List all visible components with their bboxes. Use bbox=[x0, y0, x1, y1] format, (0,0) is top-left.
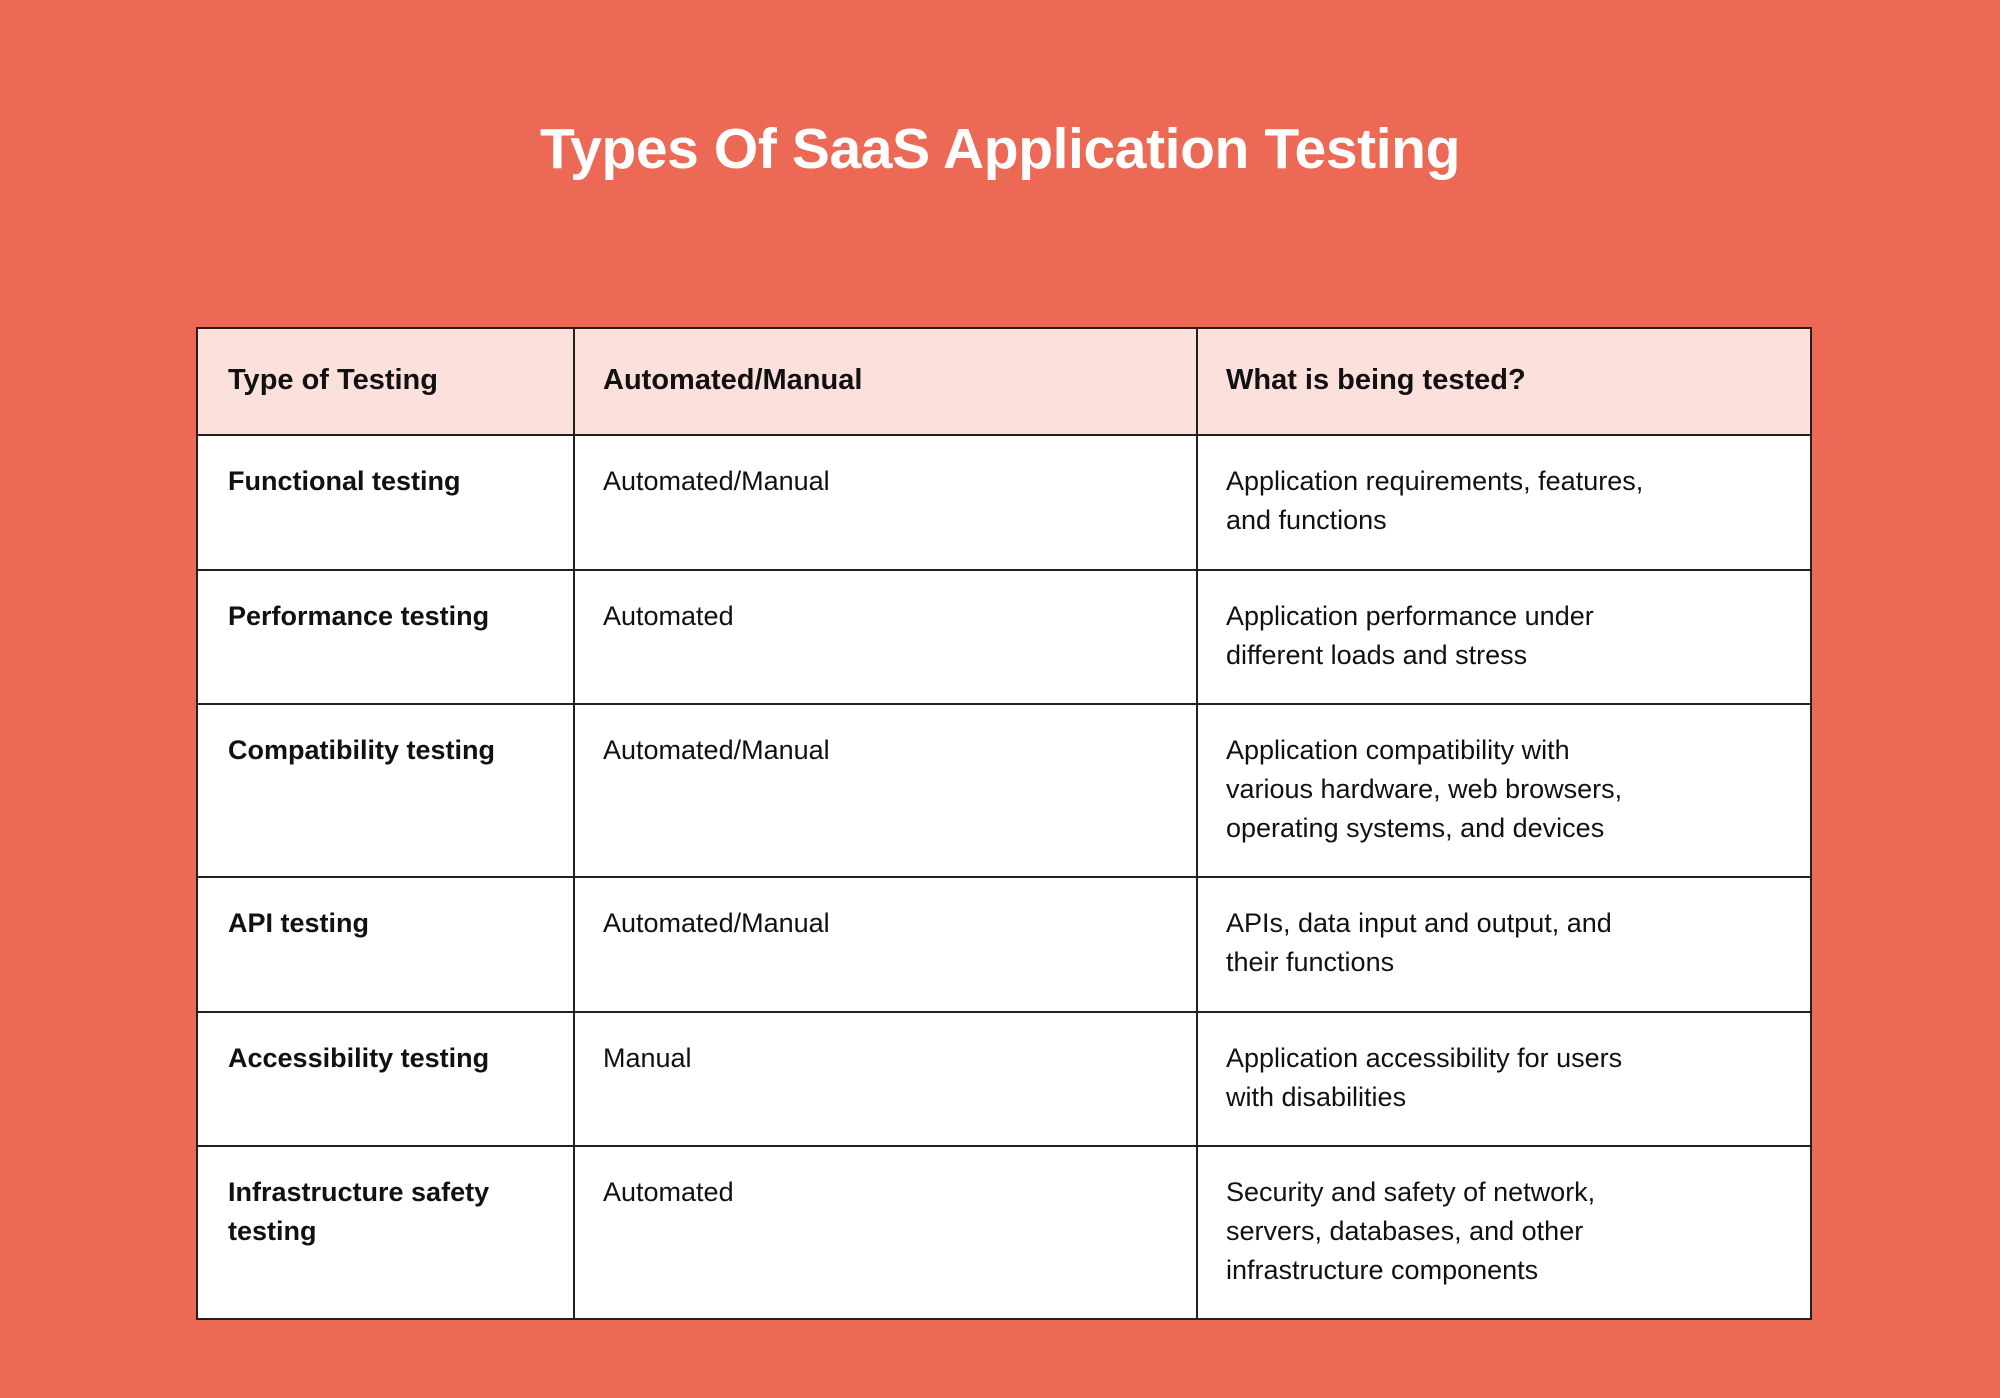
cell-text-line: various hardware, web browsers, bbox=[1226, 770, 1770, 809]
cell-text-line: operating systems, and devices bbox=[1226, 809, 1770, 848]
cell-testing-mode: Automated bbox=[574, 1146, 1197, 1319]
cell-testing-mode: Automated bbox=[574, 570, 1197, 704]
cell-text-line: Application requirements, features, bbox=[1226, 462, 1770, 501]
cell-text-line: Application performance under bbox=[1226, 597, 1770, 636]
column-header-automated-manual: Automated/Manual bbox=[574, 328, 1197, 435]
poster-canvas: Types Of SaaS Application Testing Type o… bbox=[0, 0, 2000, 1398]
testing-types-table: Type of Testing Automated/Manual What is… bbox=[196, 327, 1812, 1320]
cell-text-line: APIs, data input and output, and bbox=[1226, 904, 1770, 943]
table-row: Accessibility testing Manual Application… bbox=[197, 1012, 1811, 1146]
cell-what-is-tested: Application compatibility with various h… bbox=[1197, 704, 1811, 877]
cell-testing-type: Functional testing bbox=[197, 435, 574, 569]
cell-what-is-tested: Security and safety of network, servers,… bbox=[1197, 1146, 1811, 1319]
cell-testing-type: API testing bbox=[197, 877, 574, 1011]
column-header-what-is-tested: What is being tested? bbox=[1197, 328, 1811, 435]
cell-what-is-tested: Application accessibility for users with… bbox=[1197, 1012, 1811, 1146]
table-header-row: Type of Testing Automated/Manual What is… bbox=[197, 328, 1811, 435]
page-title: Types Of SaaS Application Testing bbox=[0, 118, 2000, 181]
cell-text-line: infrastructure components bbox=[1226, 1251, 1770, 1290]
cell-text-line: their functions bbox=[1226, 943, 1770, 982]
table-body: Functional testing Automated/Manual Appl… bbox=[197, 435, 1811, 1319]
table-header: Type of Testing Automated/Manual What is… bbox=[197, 328, 1811, 435]
testing-types-table-container: Type of Testing Automated/Manual What is… bbox=[196, 327, 1810, 1320]
table-row: API testing Automated/Manual APIs, data … bbox=[197, 877, 1811, 1011]
table-row: Infrastructure safety testing Automated … bbox=[197, 1146, 1811, 1319]
cell-text-line: with disabilities bbox=[1226, 1078, 1770, 1117]
table-row: Compatibility testing Automated/Manual A… bbox=[197, 704, 1811, 877]
cell-testing-mode: Manual bbox=[574, 1012, 1197, 1146]
cell-testing-type: Compatibility testing bbox=[197, 704, 574, 877]
cell-text-line: different loads and stress bbox=[1226, 636, 1770, 675]
cell-text-line: Security and safety of network, bbox=[1226, 1173, 1770, 1212]
cell-text-line: Application compatibility with bbox=[1226, 731, 1770, 770]
cell-testing-type: Infrastructure safety testing bbox=[197, 1146, 574, 1319]
cell-testing-type: Performance testing bbox=[197, 570, 574, 704]
cell-text-line: Application accessibility for users bbox=[1226, 1039, 1770, 1078]
cell-what-is-tested: APIs, data input and output, and their f… bbox=[1197, 877, 1811, 1011]
cell-testing-type: Accessibility testing bbox=[197, 1012, 574, 1146]
cell-testing-mode: Automated/Manual bbox=[574, 435, 1197, 569]
column-header-type-of-testing: Type of Testing bbox=[197, 328, 574, 435]
cell-testing-mode: Automated/Manual bbox=[574, 877, 1197, 1011]
table-row: Performance testing Automated Applicatio… bbox=[197, 570, 1811, 704]
cell-what-is-tested: Application performance under different … bbox=[1197, 570, 1811, 704]
cell-text-line: and functions bbox=[1226, 501, 1770, 540]
table-row: Functional testing Automated/Manual Appl… bbox=[197, 435, 1811, 569]
cell-testing-mode: Automated/Manual bbox=[574, 704, 1197, 877]
cell-text-line: servers, databases, and other bbox=[1226, 1212, 1770, 1251]
cell-what-is-tested: Application requirements, features, and … bbox=[1197, 435, 1811, 569]
